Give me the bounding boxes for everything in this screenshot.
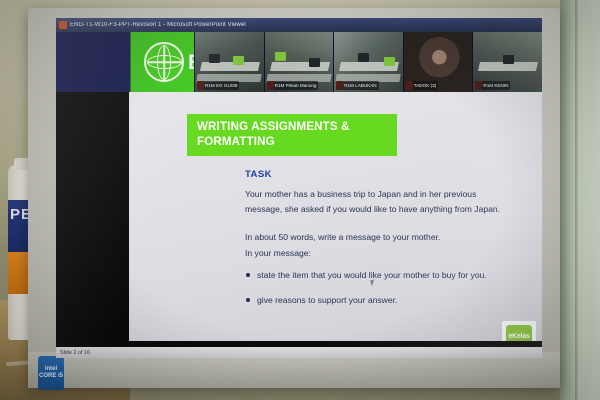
task-paragraph: message, she asked if you would like to … [245, 203, 535, 216]
participant-tile[interactable]: R1M KENIN [472, 32, 542, 92]
participant-tile[interactable]: R1M Pekan Manong [264, 32, 334, 92]
wall-seam [575, 0, 578, 400]
participant-name: TADOK (3) [406, 81, 438, 90]
photo-scene: PEP intel CORE i5 ENG-T1-W10-F3-PPT-Revi… [0, 0, 600, 400]
task-paragraph: In your message: [245, 247, 535, 260]
video-monitor [309, 58, 320, 67]
slide-heading: WRITING ASSIGNMENTS & FORMATTING [187, 114, 397, 156]
task-paragraph: Your mother has a business trip to Japan… [245, 188, 535, 201]
task-label: TASK [245, 168, 535, 183]
participant-name: R1M Pekan Manong [267, 81, 319, 90]
slide-counter: Slide 2 of 16 [60, 350, 90, 356]
spacer [245, 218, 535, 231]
meeting-top-bar: ENG R1M KG GUOB [56, 32, 542, 92]
video-desk [270, 62, 330, 71]
right-wall [560, 0, 600, 400]
slide-body: TASK Your mother has a business trip to … [245, 168, 535, 320]
globe-meridian-2 [147, 55, 182, 69]
globe-icon [144, 42, 184, 82]
video-desk [200, 62, 260, 71]
list-item: give reasons to support your answer. [245, 294, 535, 307]
video-monitor [358, 53, 369, 62]
participant-name: R1M KG GUOB [197, 81, 239, 90]
list-item: state the item that you would like your … [245, 269, 535, 282]
video-monitor [384, 57, 395, 66]
participant-name: R1M KENIN [475, 81, 510, 90]
presentation-slide[interactable]: WRITING ASSIGNMENTS & FORMATTING TASK Yo… [129, 92, 542, 358]
video-monitor [233, 56, 244, 65]
slide-letterbox [56, 92, 129, 358]
participant-filmstrip[interactable]: R1M KG GUOB R1M Pekan Manong [194, 32, 542, 92]
video-monitor [209, 54, 220, 63]
window-title-bar: ENG-T1-W10-F3-PPT-Revision 1 - Microsoft… [56, 18, 542, 32]
video-monitor [275, 52, 286, 61]
participant-name: R1M LABUKAN [336, 81, 378, 90]
window-title: ENG-T1-W10-F3-PPT-Revision 1 - Microsoft… [70, 22, 246, 28]
status-bar: Slide 2 of 16 [56, 347, 542, 358]
powerpoint-icon [59, 21, 67, 29]
screen: ENG-T1-W10-F3-PPT-Revision 1 - Microsoft… [56, 18, 542, 358]
participant-tile[interactable]: TADOK (3) [403, 32, 473, 92]
participant-tile[interactable]: R1M KG GUOB [194, 32, 264, 92]
video-monitor [503, 55, 514, 64]
participant-tile[interactable]: R1M LABUKAN [333, 32, 403, 92]
task-paragraph: In about 50 words, write a message to yo… [245, 231, 535, 244]
globe-meridian-1 [157, 45, 171, 80]
ekelas-logo-text: eKelas [508, 333, 529, 340]
intel-sticker: intel CORE i5 [38, 356, 64, 390]
task-bullet-list: state the item that you would like your … [245, 269, 535, 308]
